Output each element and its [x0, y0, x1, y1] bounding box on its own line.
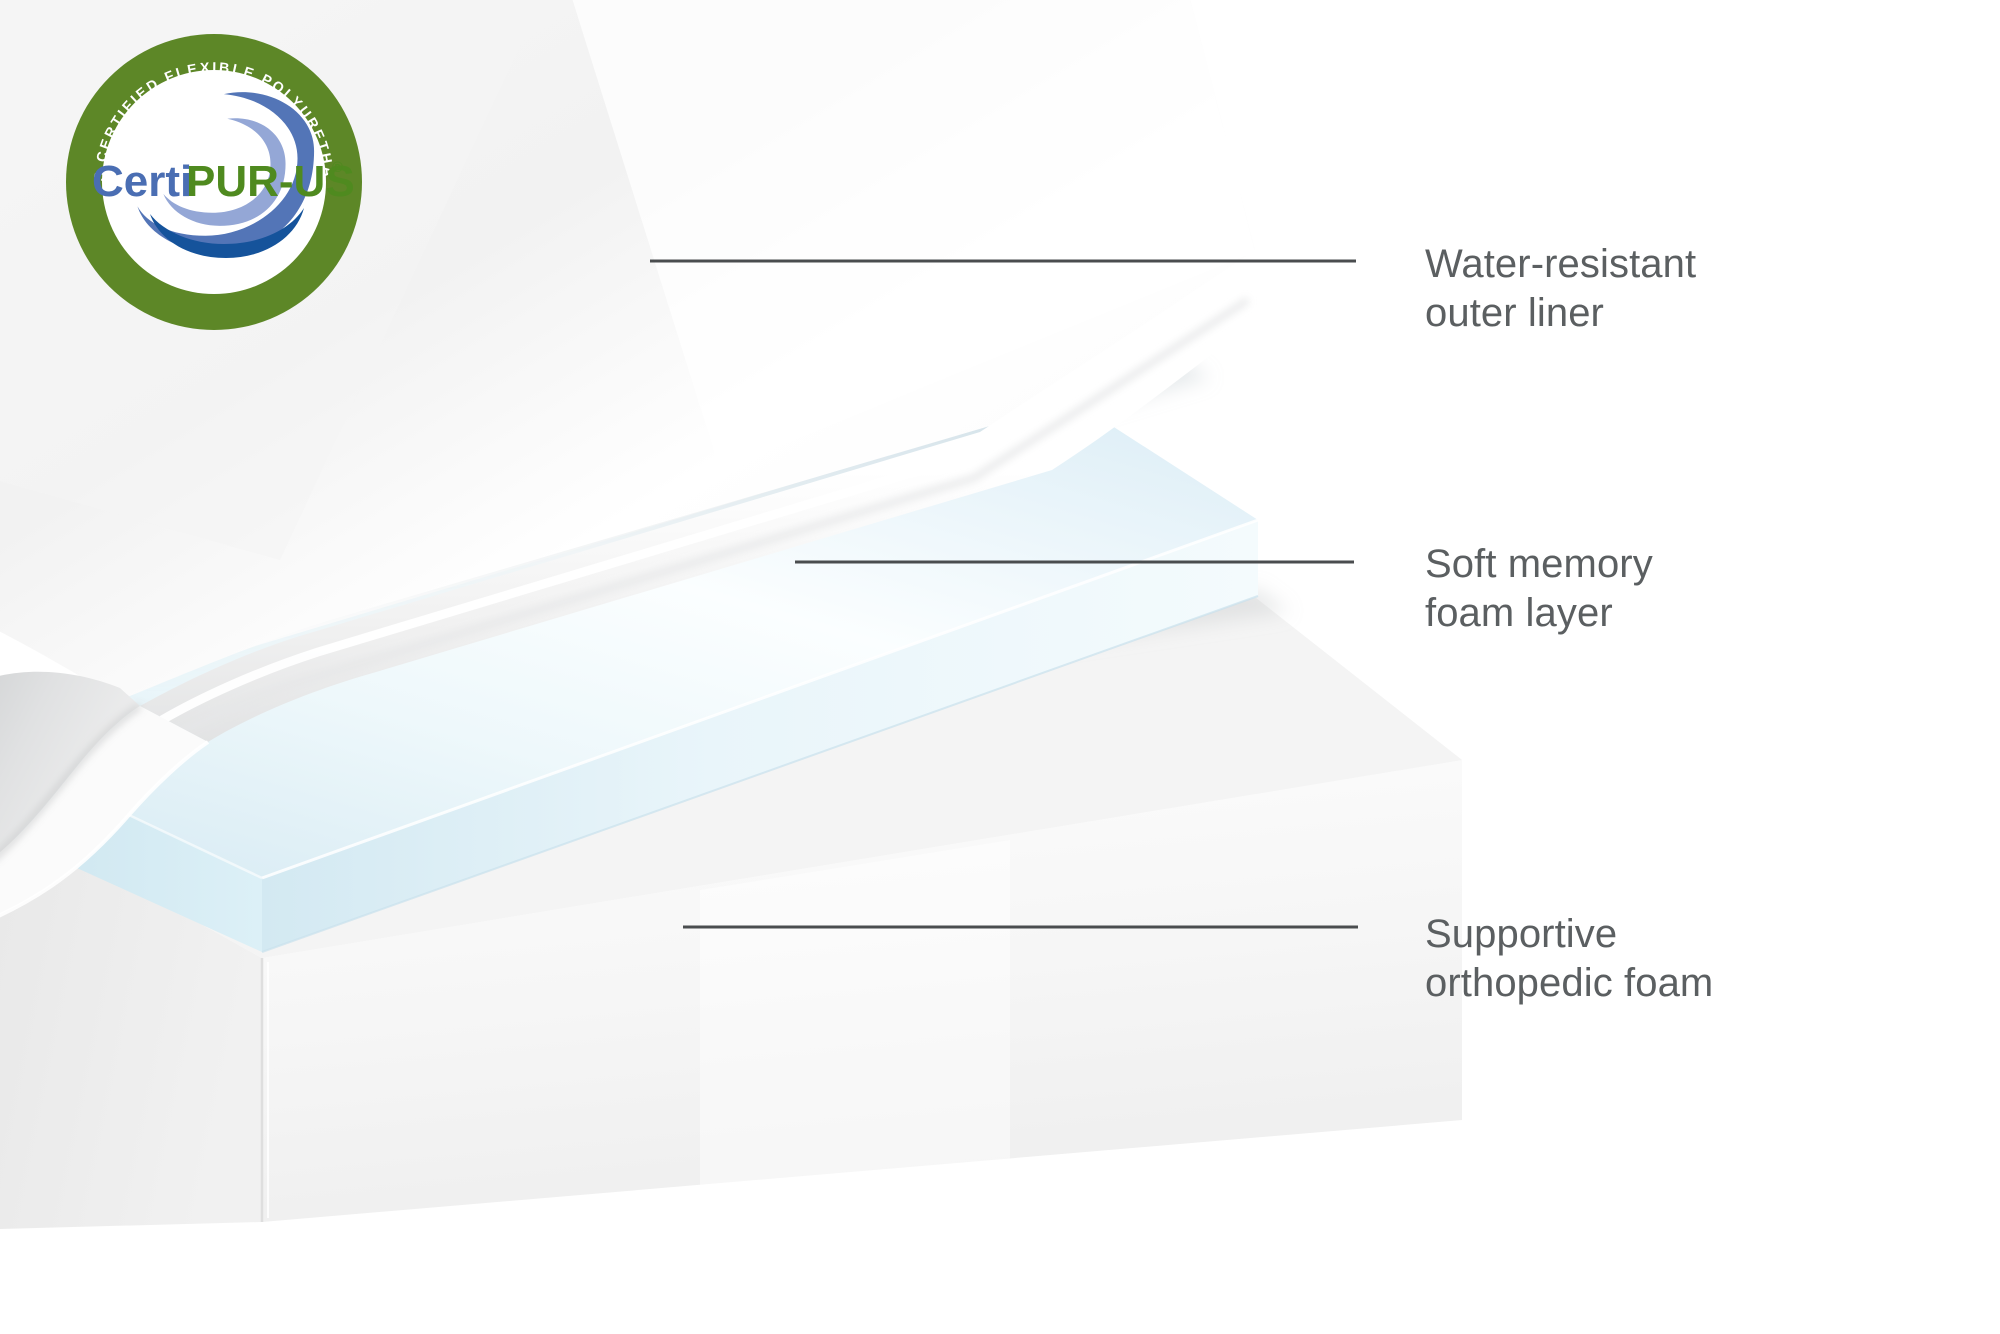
callout-label-orthopedic-foam: Supportive orthopedic foam [1425, 910, 1713, 1008]
infographic-canvas: CONTAINS CERTIFIED FLEXIBLE POLYURETHANE… [0, 0, 2000, 1334]
callout-label-memory-foam: Soft memory foam layer [1425, 540, 1653, 638]
certipur-us-badge: CONTAINS CERTIFIED FLEXIBLE POLYURETHANE… [64, 32, 364, 332]
badge-wordmark-certi: Certi [92, 157, 192, 206]
badge-wordmark: Certi PUR-US ® [92, 157, 355, 206]
badge-registered-mark: ® [332, 159, 343, 176]
callout-label-outer-liner: Water-resistant outer liner [1425, 240, 1696, 338]
badge-wordmark-purus: PUR-US [186, 157, 355, 206]
